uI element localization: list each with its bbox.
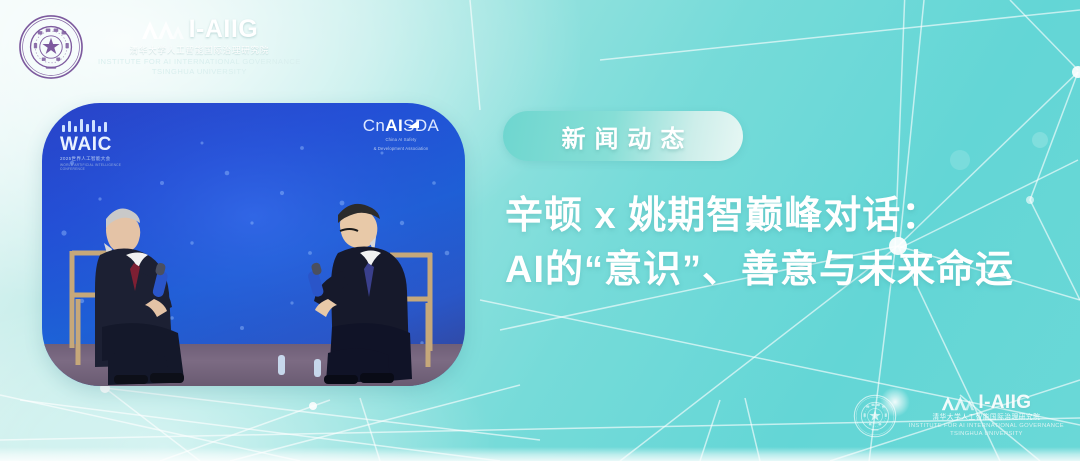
speaker-right-yao [307, 204, 412, 384]
footer-aiig-brand-top: I-AIIG [941, 393, 1031, 412]
tsinghua-seal-icon [853, 394, 897, 438]
footer-org-en: INSTITUTE FOR AI INTERNATIONAL GOVERNANC… [909, 423, 1064, 439]
aiig-wordmark: I-AIIG [189, 17, 259, 42]
footer-org-cn: 清华大学人工智能国际治理研究院 [932, 415, 1040, 422]
aiig-mountain-icon [941, 394, 975, 411]
water-bottles [278, 355, 321, 377]
event-photo: WAIC 2025世界人工智能大会 WORLD ARTIFICIAL INTEL… [42, 103, 465, 386]
aiig-org-en: INSTITUTE FOR AI INTERNATIONAL GOVERNANC… [98, 57, 301, 78]
footer-aiig-brand-block: I-AIIG 清华大学人工智能国际治理研究院 INSTITUTE FOR AI … [909, 393, 1064, 439]
aiig-org-en-line1: INSTITUTE FOR AI INTERNATIONAL GOVERNANC… [98, 57, 301, 67]
aiig-brand-top: I-AIIG [141, 17, 259, 42]
footer-org-en-line2: TSINGHUA UNIVERSITY [909, 431, 1064, 439]
aiig-org-cn: 清华大学人工智能国际治理研究院 [130, 46, 270, 55]
bottom-highlight-strip [0, 447, 1080, 461]
aiig-mountain-icon [141, 18, 185, 40]
tsinghua-seal-icon [18, 14, 84, 80]
footer-org-en-line1: INSTITUTE FOR AI INTERNATIONAL GOVERNANC… [909, 423, 1064, 431]
speakers-illustration [42, 103, 465, 386]
article-title-line1: 辛顿 x 姚期智巅峰对话： [505, 190, 1065, 244]
article-title-line2: AI的“意识”、善意与未来命运 [505, 244, 1065, 298]
header-logo-lockup: I-AIIG 清华大学人工智能国际治理研究院 INSTITUTE FOR AI … [18, 14, 301, 80]
news-category-badge: 新闻动态 [503, 111, 743, 161]
footer-aiig-wordmark: I-AIIG [978, 393, 1031, 412]
aiig-org-en-line2: TSINGHUA UNIVERSITY [98, 67, 301, 77]
article-title: 辛顿 x 姚期智巅峰对话： AI的“意识”、善意与未来命运 [505, 190, 1065, 298]
poster-canvas: I-AIIG 清华大学人工智能国际治理研究院 INSTITUTE FOR AI … [0, 0, 1080, 461]
footer-logo-lockup: I-AIIG 清华大学人工智能国际治理研究院 INSTITUTE FOR AI … [853, 393, 1064, 439]
aiig-brand-block: I-AIIG 清华大学人工智能国际治理研究院 INSTITUTE FOR AI … [98, 17, 301, 78]
news-category-badge-label: 新闻动态 [553, 119, 694, 154]
speaker-left-hinton [95, 209, 184, 385]
